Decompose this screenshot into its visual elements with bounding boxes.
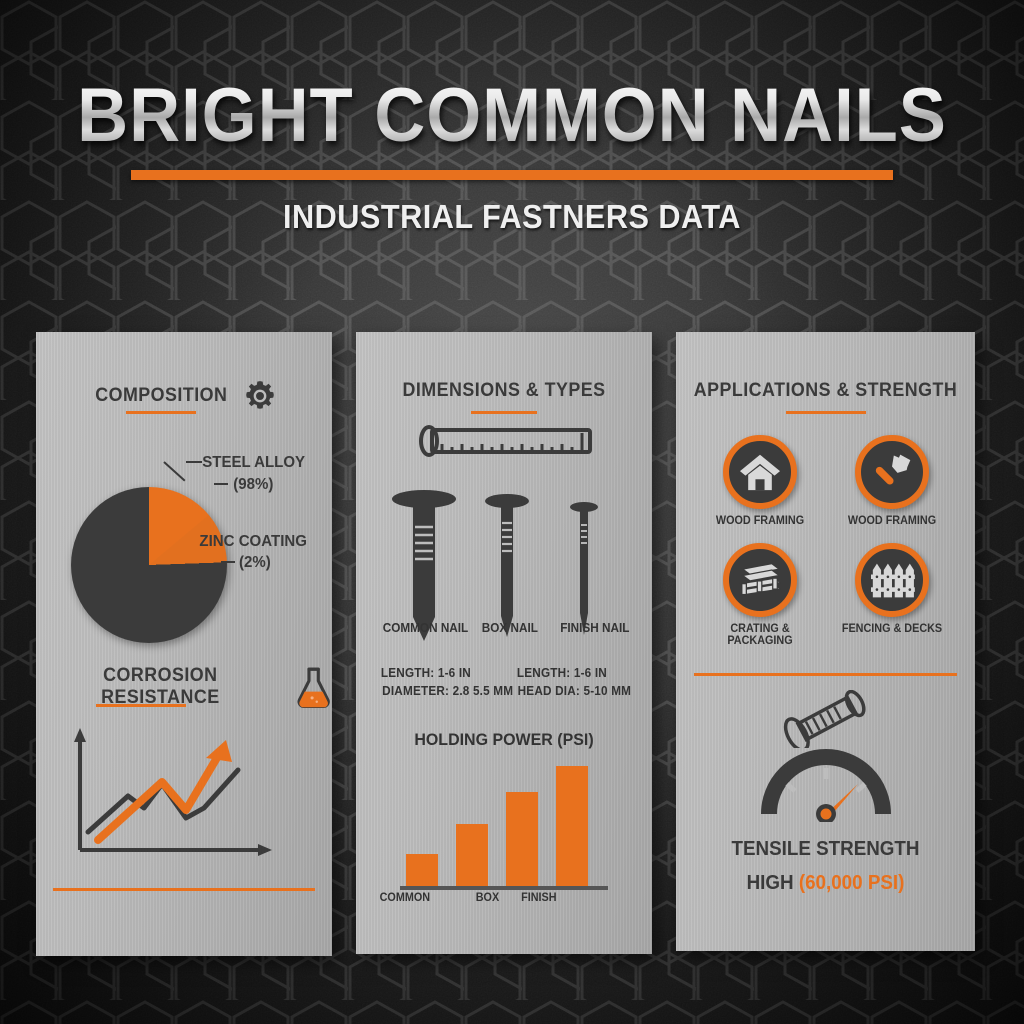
- page-subtitle: INDUSTRIAL FASTNERS DATA: [36, 198, 988, 236]
- dimensions-accent-rule: [471, 411, 537, 414]
- pie-value-steel: (98%): [233, 476, 273, 494]
- application-label: WOOD FRAMING: [834, 515, 951, 527]
- house-icon: [738, 452, 782, 492]
- bar-finish: [556, 766, 588, 886]
- pie-label-zinc: ZINC COATING: [199, 533, 306, 551]
- holding-power-bar-chart: [400, 760, 610, 890]
- series-trend: [98, 756, 218, 840]
- application-label: FENCING & DECKS: [834, 623, 951, 635]
- bar-label-common: COMMON: [380, 892, 430, 904]
- composition-pie-chart: [61, 472, 241, 652]
- box-nail-icon: [485, 494, 529, 637]
- bar-label-box: BOX: [476, 892, 499, 904]
- application-wood-framing-hammer[interactable]: WOOD FRAMING: [830, 435, 954, 527]
- flask-icon: [295, 666, 332, 708]
- holding-power-title: HOLDING POWER (PSI): [365, 730, 643, 750]
- icon-circle: [855, 543, 929, 617]
- application-fencing-decks[interactable]: FENCING & DECKS: [830, 543, 954, 635]
- panel-dimensions: DIMENSIONS & TYPES: [356, 332, 652, 954]
- nail-icon: [771, 690, 881, 748]
- fence-icon: [869, 559, 915, 601]
- corrosion-line-chart: [66, 722, 286, 872]
- applications-title: APPLICATIONS & STRENGTH: [685, 380, 966, 402]
- spec-length-left: LENGTH: 1-6 IN: [381, 666, 471, 680]
- panel-composition: COMPOSITION STEEL ALLOY (98%) ZINC COATI…: [36, 332, 332, 956]
- tensile-strength-value: HIGH (60,000 PSI): [685, 872, 966, 895]
- tensile-strength-label: TENSILE STRENGTH: [685, 838, 966, 861]
- page-title: BRIGHT COMMON NAILS: [36, 78, 988, 154]
- nail-type-label-common: COMMON NAIL: [383, 621, 469, 635]
- panel-applications: APPLICATIONS & STRENGTH WOOD FRAMING: [676, 332, 975, 951]
- pie-value-zinc: (2%): [239, 554, 271, 572]
- nail-ruler-icon: [416, 420, 596, 462]
- bar-common: [406, 854, 438, 886]
- icon-circle: [723, 543, 797, 617]
- composition-heading: COMPOSITION: [36, 379, 332, 413]
- icon-circle: [855, 435, 929, 509]
- x-axis-arrow-icon: [258, 844, 272, 856]
- application-label: WOOD FRAMING: [702, 515, 819, 527]
- bar-label-finish: FINISH: [521, 892, 556, 904]
- bar-chart-baseline: [400, 886, 608, 890]
- header: BRIGHT COMMON NAILS INDUSTRIAL FASTNERS …: [0, 78, 1024, 236]
- corrosion-heading: CORROSION RESISTANCE: [36, 665, 332, 709]
- common-nail-icon: [392, 490, 456, 641]
- icon-circle: [723, 435, 797, 509]
- pallet-icon: [737, 560, 783, 600]
- gear-icon: [243, 379, 277, 413]
- corrosion-title: CORROSION RESISTANCE: [43, 665, 277, 709]
- bar-box: [506, 792, 538, 886]
- composition-accent-rule: [126, 411, 196, 414]
- spec-length-right: LENGTH: 1-6 IN: [517, 666, 607, 680]
- corrosion-accent-rule: [96, 704, 186, 707]
- trend-arrowhead-icon: [206, 740, 232, 762]
- pie-slices: [71, 487, 227, 643]
- gauge-icon: [759, 744, 893, 822]
- left-panel-bottom-rule: [53, 888, 315, 891]
- spec-diameter: DIAMETER: 2.8 5.5 MM: [382, 684, 513, 698]
- applications-grid: WOOD FRAMING WOOD FRAMING: [698, 435, 954, 645]
- composition-title: COMPOSITION: [95, 385, 227, 407]
- finish-nail-icon: [570, 502, 598, 635]
- nail-type-label-finish: FINISH NAIL: [560, 621, 629, 635]
- applications-heading: APPLICATIONS & STRENGTH: [676, 380, 975, 414]
- dimensions-title: DIMENSIONS & TYPES: [365, 380, 643, 402]
- spec-head-diameter: HEAD DIA: 5-10 MM: [518, 684, 632, 698]
- y-axis-arrow-icon: [74, 728, 86, 742]
- dimensions-heading: DIMENSIONS & TYPES: [356, 380, 652, 414]
- pie-leader-zinc-value: [221, 561, 235, 563]
- application-wood-framing-house[interactable]: WOOD FRAMING: [698, 435, 822, 527]
- title-divider: [131, 170, 893, 180]
- bar-second: [456, 824, 488, 886]
- applications-accent-rule: [786, 411, 866, 414]
- pie-leader-steel-value: [214, 483, 228, 485]
- right-panel-divider: [694, 673, 957, 676]
- pie-label-steel: STEEL ALLOY: [202, 454, 305, 472]
- nail-type-label-box: BOX NAIL: [482, 621, 538, 635]
- hammer-icon: [870, 450, 914, 494]
- application-crating-packaging[interactable]: CRATING & PACKAGING: [698, 543, 822, 647]
- tensile-level: HIGH: [747, 872, 794, 894]
- pie-leader-steel: [186, 461, 202, 463]
- tensile-psi: (60,000 PSI): [799, 872, 905, 894]
- application-label: CRATING & PACKAGING: [702, 623, 819, 647]
